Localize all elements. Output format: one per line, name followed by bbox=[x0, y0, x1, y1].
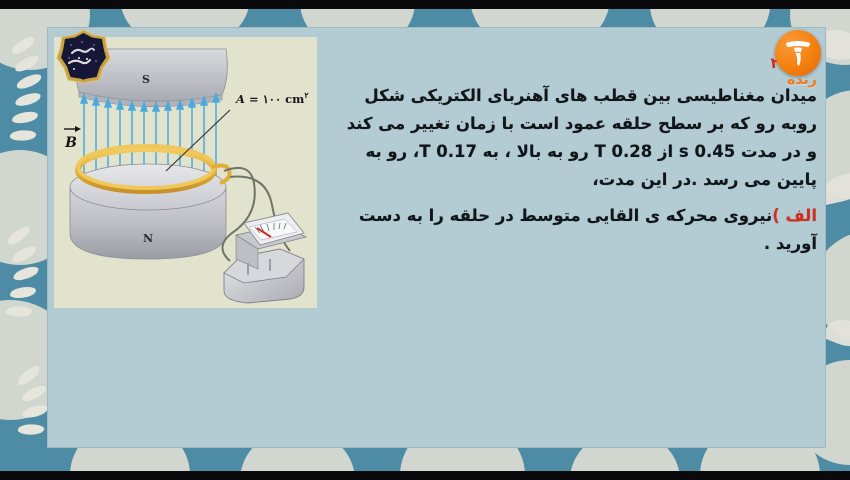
svg-text:N: N bbox=[143, 232, 153, 245]
channel-glyph-icon bbox=[775, 30, 821, 76]
letterbox-top bbox=[0, 0, 850, 9]
broadcast-screen: S bbox=[0, 0, 850, 480]
live-badge: زنده bbox=[772, 30, 832, 100]
exercise-line-1: میدان مغناطیسی بین قطب های آهنربای الکتر… bbox=[317, 82, 817, 110]
exercise-part-a: الف )نیروی محرکه ی القایی متوسط در حلقه … bbox=[317, 202, 817, 230]
exercise-text-column: تـ ۴-۲ میدان مغناطیسی بین قطب های آهنربا… bbox=[317, 64, 817, 258]
exercise-line-3: و در مدت 0.45 s از 0.28 T رو به بالا ، ب… bbox=[317, 138, 817, 166]
svg-text:B: B bbox=[64, 135, 77, 151]
exercise-part-a-cont: آورید . bbox=[317, 230, 817, 258]
exercise-line-4: پایین می رسد .در این مدت، bbox=[317, 166, 817, 194]
galvanometer bbox=[224, 213, 306, 303]
live-label: زنده bbox=[772, 72, 832, 88]
area-label: A = ١٠٠ cm٢ bbox=[235, 90, 309, 106]
slide-panel: S bbox=[47, 27, 826, 448]
part-a-marker: الف ) bbox=[772, 206, 817, 225]
exercise-line-2: روبه رو که بر سطح حلقه عمود است با زمان … bbox=[317, 110, 817, 138]
channel-badge-icon bbox=[55, 28, 112, 85]
iribt-orange-logo bbox=[775, 30, 821, 76]
part-a-text: نیروی محرکه ی القایی متوسط در حلقه را به… bbox=[359, 206, 772, 225]
letterbox-bottom bbox=[0, 471, 850, 480]
field-vector-label: B bbox=[64, 126, 81, 151]
ornamental-channel-badge bbox=[55, 28, 112, 85]
svg-text:S: S bbox=[142, 73, 150, 86]
